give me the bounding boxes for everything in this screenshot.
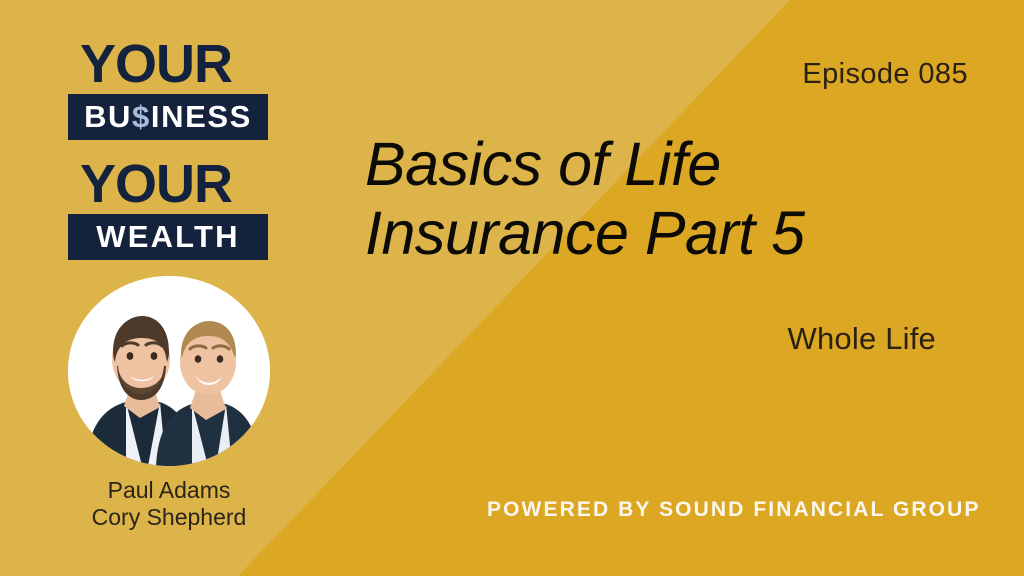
show-logo: YOUR BU$INESS YOUR WEALTH bbox=[68, 38, 268, 260]
episode-subtitle: Whole Life bbox=[788, 321, 936, 357]
logo-word-your-top: YOUR bbox=[68, 38, 268, 91]
episode-title-line-2: Insurance Part 5 bbox=[365, 199, 965, 268]
powered-by-credit: POWERED BY SOUND FINANCIAL GROUP bbox=[487, 498, 980, 522]
logo-business-prefix: BU bbox=[84, 99, 132, 134]
dollar-sign-icon: $ bbox=[132, 99, 151, 134]
episode-number: Episode 085 bbox=[802, 58, 968, 91]
logo-bar-wealth: WEALTH bbox=[68, 214, 268, 260]
logo-business-suffix: INESS bbox=[151, 99, 252, 134]
host-name-2: Cory Shepherd bbox=[48, 504, 290, 531]
episode-title-line-1: Basics of Life bbox=[365, 130, 965, 199]
page-title: Basics of Life Insurance Part 5 bbox=[365, 130, 965, 268]
host-name-1: Paul Adams bbox=[48, 477, 290, 504]
avatar bbox=[68, 276, 270, 466]
hosts-photo-illustration bbox=[68, 276, 270, 466]
podcast-cover-art: YOUR BU$INESS YOUR WEALTH bbox=[0, 0, 1024, 576]
logo-word-your-bottom: YOUR bbox=[68, 158, 268, 211]
host-names: Paul Adams Cory Shepherd bbox=[48, 477, 290, 531]
logo-bar-business: BU$INESS bbox=[68, 94, 268, 140]
